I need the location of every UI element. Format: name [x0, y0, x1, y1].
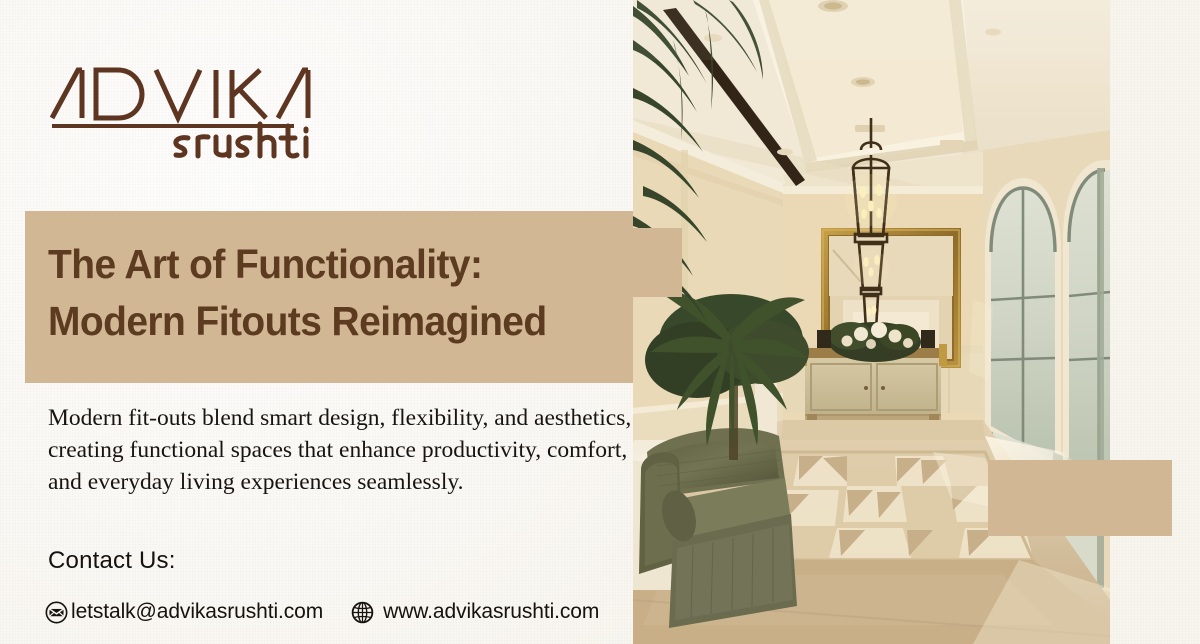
contact-heading: Contact Us: — [48, 547, 176, 575]
brand-logo[interactable] — [48, 56, 338, 160]
contact-row: letstalk@advikasrushti.com www.advikasru… — [45, 600, 599, 624]
accent-rectangle-bottom — [988, 460, 1172, 536]
page-title: The Art of Functionality: Modern Fitouts… — [48, 236, 618, 350]
interior-photo-illustration — [633, 0, 1110, 644]
marketing-banner: The Art of Functionality: Modern Fitouts… — [0, 0, 1200, 644]
contact-email[interactable]: letstalk@advikasrushti.com — [45, 600, 323, 624]
accent-rectangle-top — [614, 228, 682, 297]
advika-srushti-logo-mark — [48, 56, 338, 160]
interior-photo — [633, 0, 1110, 644]
contact-website[interactable]: www.advikasrushti.com — [351, 600, 599, 624]
contact-website-text: www.advikasrushti.com — [383, 600, 599, 624]
envelope-icon — [45, 601, 68, 624]
body-paragraph: Modern fit-outs blend smart design, flex… — [48, 402, 633, 498]
globe-icon — [351, 601, 374, 624]
contact-email-text: letstalk@advikasrushti.com — [71, 600, 323, 624]
